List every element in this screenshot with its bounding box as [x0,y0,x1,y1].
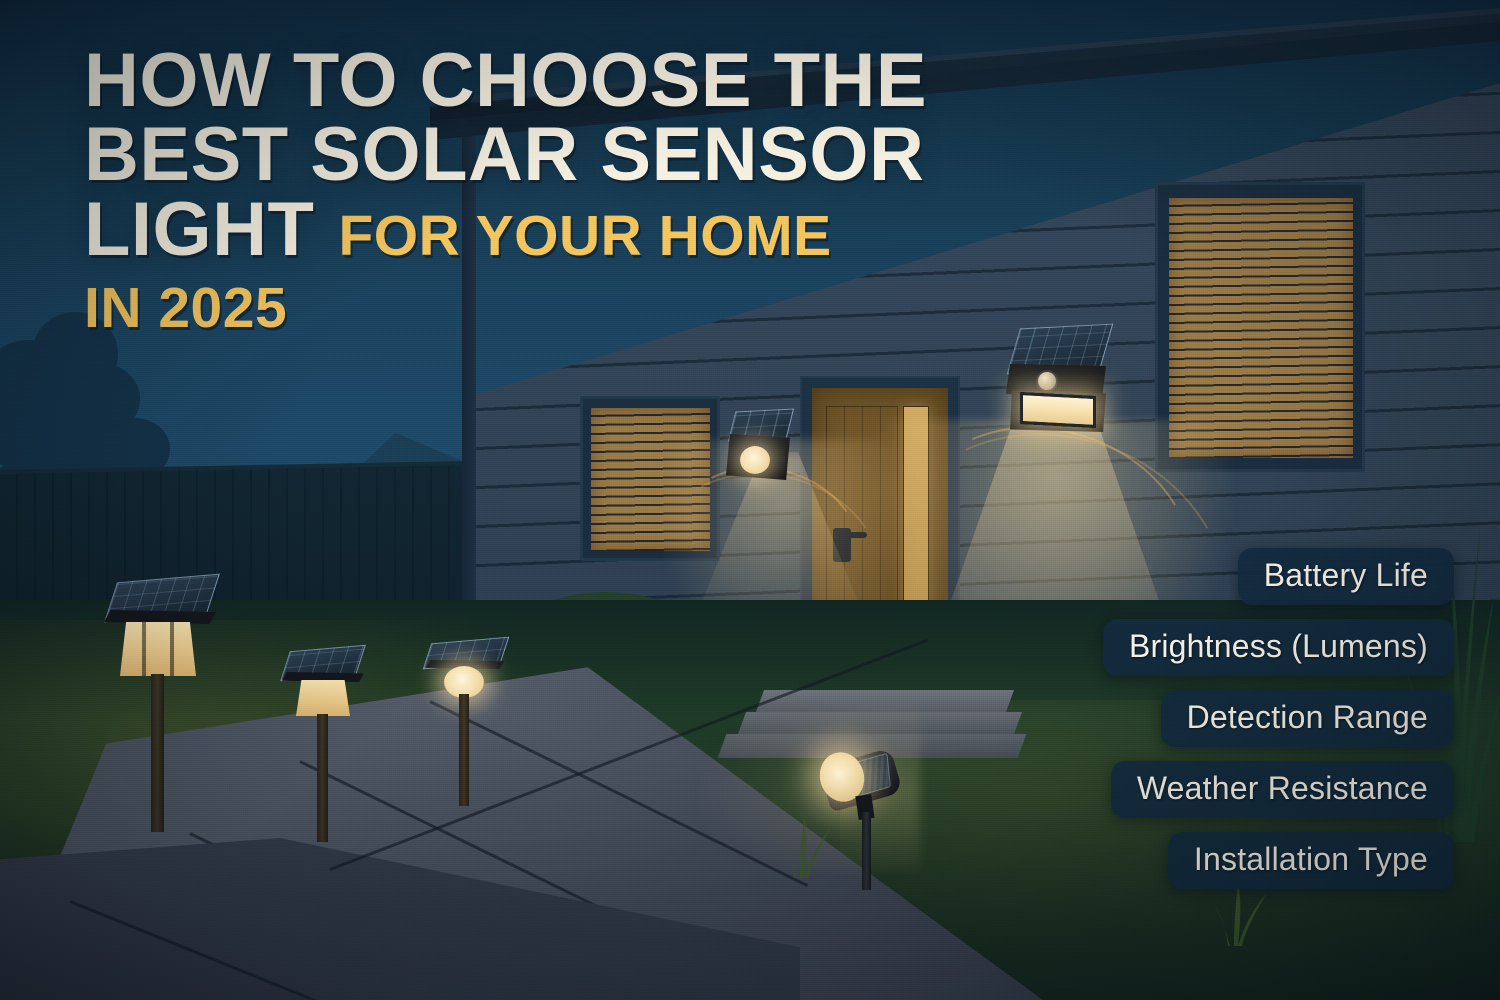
lantern-glass-icon [120,622,196,676]
light-post [317,714,328,842]
feature-list: Battery Life Brightness (Lumens) Detecti… [984,548,1454,889]
window-blinds [1169,198,1353,458]
title-line-3: LIGHT [84,193,314,267]
feature-pill-brightness[interactable]: Brightness (Lumens) [1103,619,1454,676]
lantern-cap [104,610,216,624]
title-line-1: HOW TO CHOOSE THE [84,44,984,118]
spotlight-ground-stake [862,812,871,890]
title-line-3-row: LIGHT FOR YOUR HOME [84,193,984,267]
title-line-3-accent: FOR YOUR HOME [338,209,831,265]
pir-sensor-icon [1036,370,1058,392]
banner-canvas: HOW TO CHOOSE THE BEST SOLAR SENSOR LIGH… [0,0,1500,1000]
window-right [1155,182,1365,472]
led-panel-icon [1020,392,1096,428]
light-post [459,694,469,806]
solar-path-light-flat [420,640,514,870]
banner-title: HOW TO CHOOSE THE BEST SOLAR SENSOR LIGH… [84,44,984,337]
solar-path-light-tapered [278,648,372,898]
solar-wall-light-large [1000,326,1110,432]
lantern-mullion [170,622,174,676]
feature-pill-detection-range[interactable]: Detection Range [1161,690,1454,747]
solar-wall-light-small [722,410,794,482]
feature-pill-weather-resistance[interactable]: Weather Resistance [1111,761,1454,818]
lantern-glass-icon [296,680,350,716]
feature-pill-battery-life[interactable]: Battery Life [1238,548,1454,605]
lantern-mullion [142,622,146,676]
led-lens-icon [740,446,770,474]
title-line-4: IN 2025 [84,281,984,337]
light-post [151,674,164,832]
title-line-2: BEST SOLAR SENSOR [84,118,984,192]
solar-path-light-lantern [98,578,228,878]
feature-pill-installation-type[interactable]: Installation Type [1168,832,1454,889]
lawn-grass-tuft-left [752,808,842,878]
